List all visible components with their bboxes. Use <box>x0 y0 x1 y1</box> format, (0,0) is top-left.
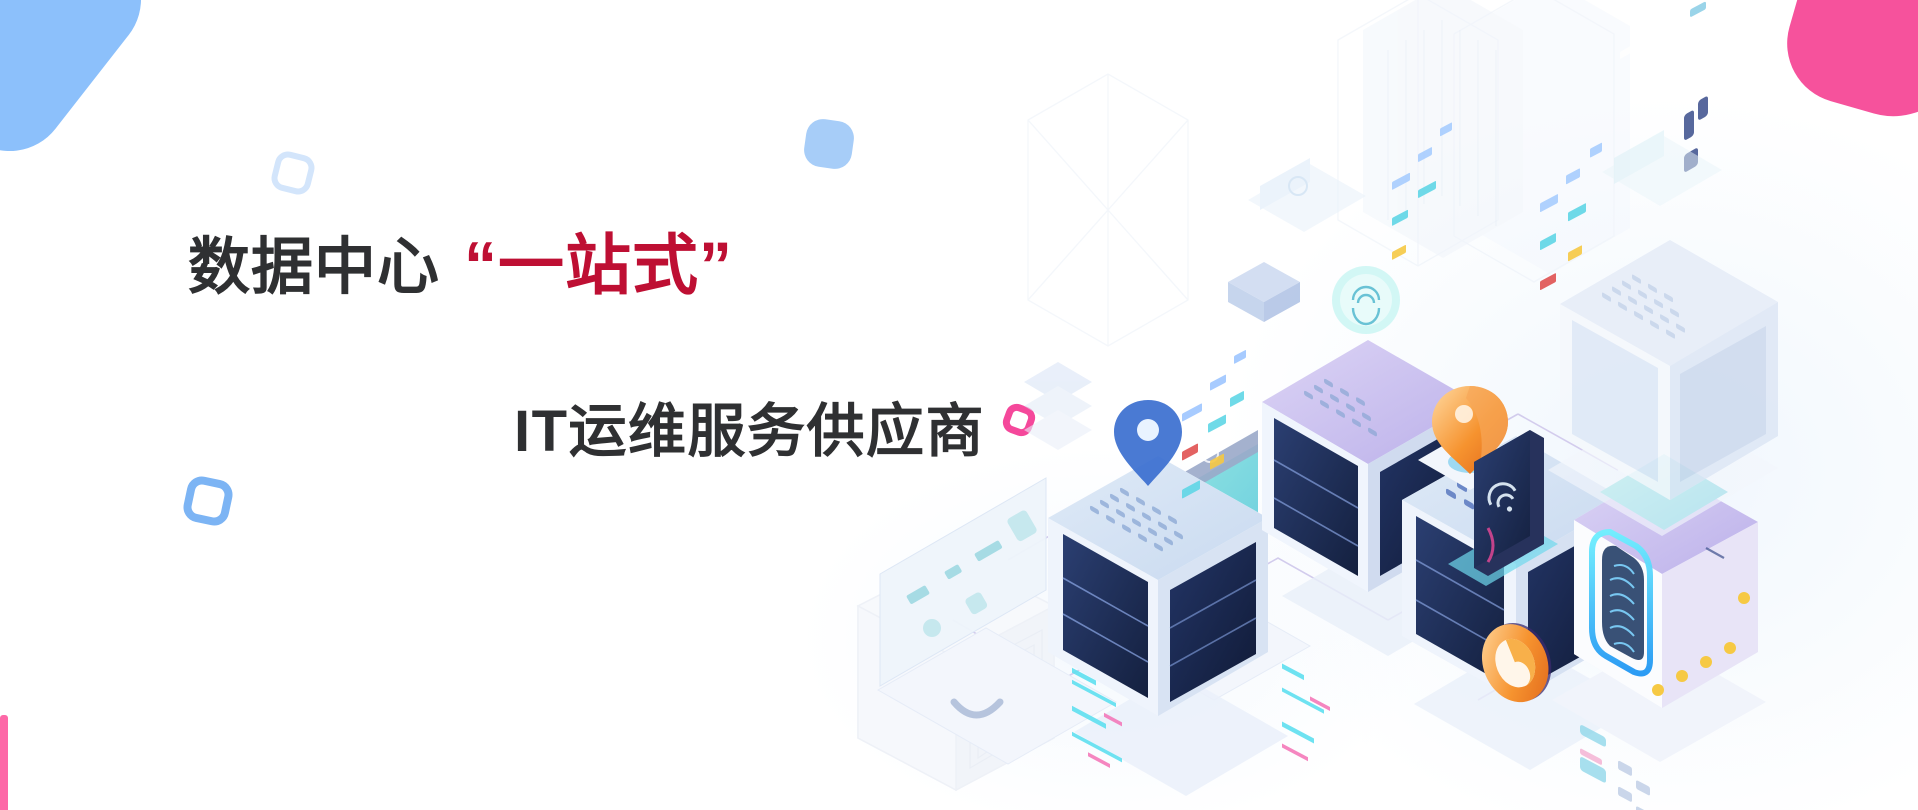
blue-ring <box>181 474 236 529</box>
pale-blue-ring <box>269 149 317 197</box>
faint-device-accent <box>1248 158 1366 232</box>
pink-edge-sliver <box>0 715 8 810</box>
blue-rounded-blob <box>0 0 164 174</box>
stack-accent <box>1024 362 1092 450</box>
small-cube-accent <box>1228 262 1300 322</box>
blue-dot-square <box>802 117 856 171</box>
server-rack-front <box>1048 350 1288 796</box>
isometric-data-center-illustration <box>858 0 1918 810</box>
headline-dark-text: 数据中心 <box>188 233 440 302</box>
fingerprint-badge <box>1332 266 1400 334</box>
headline-red-text: “一站式” <box>464 228 733 302</box>
hero-banner: 数据中心“一站式” IT运维服务供应商 <box>0 0 1918 810</box>
